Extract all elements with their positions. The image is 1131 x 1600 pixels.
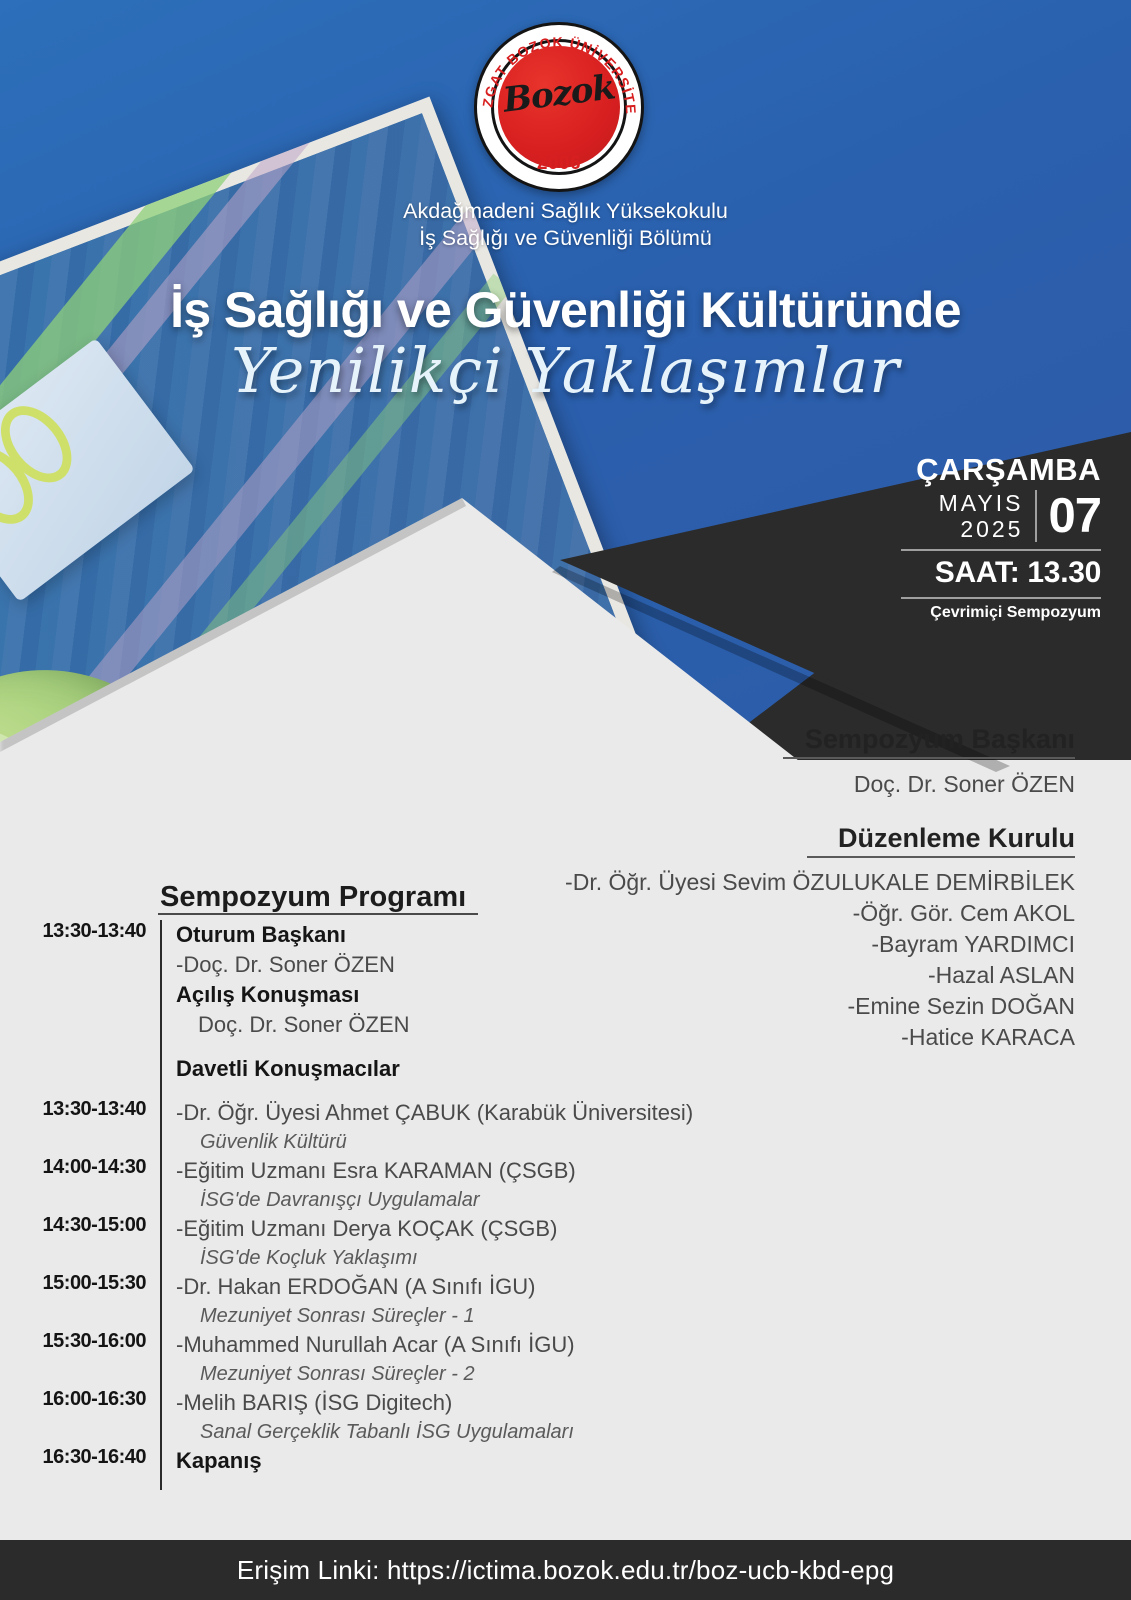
row-body: Davetli Konuşmacılar <box>162 1040 820 1098</box>
speaker-topic: Güvenlik Kültürü <box>176 1128 820 1156</box>
table-row: 15:00-15:30 -Dr. Hakan ERDOĞAN (A Sınıfı… <box>0 1272 820 1330</box>
date-divider-2 <box>901 597 1101 599</box>
table-row: 13:30-13:40 Oturum Başkanı -Doç. Dr. Son… <box>0 920 820 1040</box>
session-chair-label: Oturum Başkanı <box>176 920 820 950</box>
table-row: 16:00-16:30 -Melih BARIŞ (İSG Digitech) … <box>0 1388 820 1446</box>
row-time: 14:30-15:00 <box>0 1214 160 1237</box>
poster-canvas: YOZGAT BOZOK ÜNİVERSİTESİ Bozok 2006 Akd… <box>0 0 1131 1600</box>
row-time: 15:30-16:00 <box>0 1330 160 1353</box>
chair-heading-rule <box>783 757 1075 759</box>
table-row: 15:30-16:00 -Muhammed Nurullah Acar (A S… <box>0 1330 820 1388</box>
row-body: Kapanış <box>162 1446 820 1490</box>
row-body: -Dr. Hakan ERDOĞAN (A Sınıfı İGU) Mezuni… <box>162 1272 820 1330</box>
row-body: Oturum Başkanı -Doç. Dr. Soner ÖZEN Açıl… <box>162 920 820 1040</box>
org-heading-rule <box>807 856 1075 858</box>
footer-bar: Erişim Linki: https://ictima.bozok.edu.t… <box>0 1540 1131 1600</box>
date-divider-1 <box>901 549 1101 551</box>
table-row: 14:30-15:00 -Eğitim Uzmanı Derya KOÇAK (… <box>0 1214 820 1272</box>
row-body: -Muhammed Nurullah Acar (A Sınıfı İGU) M… <box>162 1330 820 1388</box>
speaker-name: -Muhammed Nurullah Acar (A Sınıfı İGU) <box>176 1330 820 1360</box>
speaker-name: -Melih BARIŞ (İSG Digitech) <box>176 1388 820 1418</box>
speakers-heading: Davetli Konuşmacılar <box>176 1054 820 1084</box>
logo-year: 2006 <box>474 153 644 175</box>
faculty-line-1: Akdağmadeni Sağlık Yüksekokulu <box>0 198 1131 225</box>
opening-speech-name: Doç. Dr. Soner ÖZEN <box>176 1010 820 1040</box>
university-logo: YOZGAT BOZOK ÜNİVERSİTESİ Bozok 2006 <box>474 22 644 192</box>
org-heading: Düzenleme Kurulu <box>838 823 1075 854</box>
year-label: 2025 <box>939 516 1024 542</box>
program-heading-rule <box>158 913 478 915</box>
row-time: 16:30-16:40 <box>0 1446 160 1469</box>
speaker-topic: Mezuniyet Sonrası Süreçler - 1 <box>176 1302 820 1330</box>
row-time: 14:00-14:30 <box>0 1156 160 1179</box>
poster-title-main: İş Sağlığı ve Güvenliği Kültüründe <box>0 281 1131 339</box>
table-row: 14:00-14:30 -Eğitim Uzmanı Esra KARAMAN … <box>0 1156 820 1214</box>
poster-title-script: Yenilikçi Yaklaşımlar <box>0 334 1131 407</box>
month-label: MAYIS <box>939 490 1024 516</box>
month-year: MAYIS 2025 <box>939 490 1036 542</box>
access-link[interactable]: Erişim Linki: https://ictima.bozok.edu.t… <box>237 1555 894 1586</box>
speaker-name: -Dr. Öğr. Üyesi Ahmet ÇABUK (Karabük Üni… <box>176 1098 820 1128</box>
table-row: 13:30-13:40 -Dr. Öğr. Üyesi Ahmet ÇABUK … <box>0 1098 820 1156</box>
speaker-topic: İSG'de Koçluk Yaklaşımı <box>176 1244 820 1272</box>
table-row: Davetli Konuşmacılar <box>0 1040 820 1098</box>
row-time: 13:30-13:40 <box>0 1098 160 1121</box>
session-chair-name: -Doç. Dr. Soner ÖZEN <box>176 950 820 980</box>
event-time: SAAT: 13.30 <box>901 556 1101 590</box>
date-box: ÇARŞAMBA MAYIS 2025 07 SAAT: 13.30 Çevri… <box>901 452 1101 622</box>
table-row: 16:30-16:40 Kapanış <box>0 1446 820 1490</box>
opening-speech-label: Açılış Konuşması <box>176 980 820 1010</box>
day-number: 07 <box>1037 491 1101 541</box>
row-body: -Melih BARIŞ (İSG Digitech) Sanal Gerçek… <box>162 1388 820 1446</box>
chair-name: Doç. Dr. Soner ÖZEN <box>515 768 1075 801</box>
row-body: -Eğitim Uzmanı Esra KARAMAN (ÇSGB) İSG'd… <box>162 1156 820 1214</box>
chair-block: Sempozyum Başkanı Doç. Dr. Soner ÖZEN <box>515 724 1075 801</box>
row-body: -Eğitim Uzmanı Derya KOÇAK (ÇSGB) İSG'de… <box>162 1214 820 1272</box>
month-day-row: MAYIS 2025 07 <box>901 490 1101 542</box>
speaker-name: -Dr. Hakan ERDOĞAN (A Sınıfı İGU) <box>176 1272 820 1302</box>
speaker-topic: İSG'de Davranışçı Uygulamalar <box>176 1186 820 1214</box>
program-heading: Sempozyum Programı <box>160 881 466 914</box>
row-body: -Dr. Öğr. Üyesi Ahmet ÇABUK (Karabük Üni… <box>162 1098 820 1156</box>
faculty-line-2: İş Sağlığı ve Güvenliği Bölümü <box>0 225 1131 252</box>
speaker-name: -Eğitim Uzmanı Esra KARAMAN (ÇSGB) <box>176 1156 820 1186</box>
chair-heading: Sempozyum Başkanı <box>805 724 1075 755</box>
speaker-name: -Eğitim Uzmanı Derya KOÇAK (ÇSGB) <box>176 1214 820 1244</box>
day-of-week: ÇARŞAMBA <box>901 452 1101 488</box>
speaker-topic: Mezuniyet Sonrası Süreçler - 2 <box>176 1360 820 1388</box>
list-item: -Dr. Öğr. Üyesi Sevim ÖZULUKALE DEMİRBİL… <box>515 867 1075 898</box>
row-time: 16:00-16:30 <box>0 1388 160 1411</box>
event-format: Çevrimiçi Sempozyum <box>901 604 1101 622</box>
closing-label: Kapanış <box>176 1446 820 1476</box>
faculty-name: Akdağmadeni Sağlık Yüksekokulu İş Sağlığ… <box>0 198 1131 252</box>
speaker-topic: Sanal Gerçeklik Tabanlı İSG Uygulamaları <box>176 1418 820 1446</box>
row-time: 15:00-15:30 <box>0 1272 160 1295</box>
row-time: 13:30-13:40 <box>0 920 160 943</box>
program-table: 13:30-13:40 Oturum Başkanı -Doç. Dr. Son… <box>0 920 820 1490</box>
